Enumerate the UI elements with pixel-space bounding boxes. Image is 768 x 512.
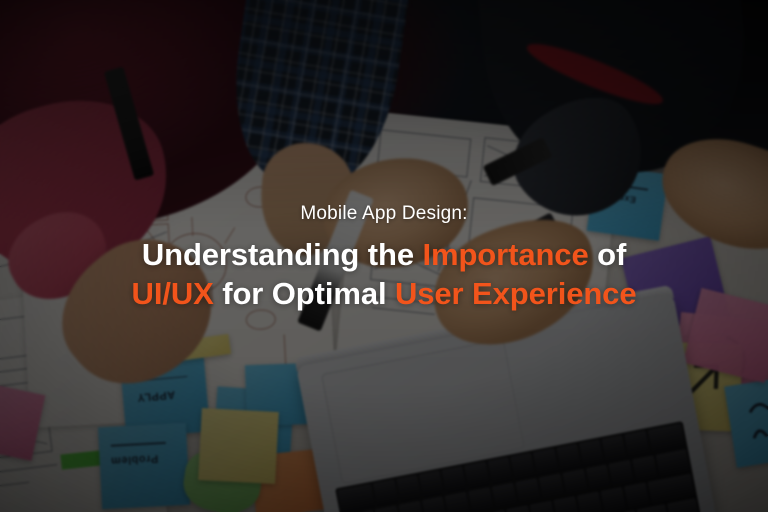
hero-text-block: Mobile App Design: Understanding the Imp…	[0, 0, 768, 512]
headline-seg-2a: UI/UX	[132, 276, 214, 311]
headline-seg-1a: Understanding the	[142, 237, 423, 272]
headline-seg-1c: of	[589, 237, 627, 272]
headline-seg-1b: Importance	[422, 237, 588, 272]
headline-seg-2b: for Optimal	[214, 276, 395, 311]
hero-banner: Explain APPLY Problem	[0, 0, 768, 512]
hero-headline: Understanding the Importance of UI/UX fo…	[132, 235, 637, 314]
hero-eyebrow: Mobile App Design:	[300, 204, 467, 225]
headline-line-2: UI/UX for Optimal User Experience	[132, 276, 637, 311]
headline-line-1: Understanding the Importance of	[142, 237, 626, 272]
headline-seg-2c: User Experience	[395, 276, 636, 311]
